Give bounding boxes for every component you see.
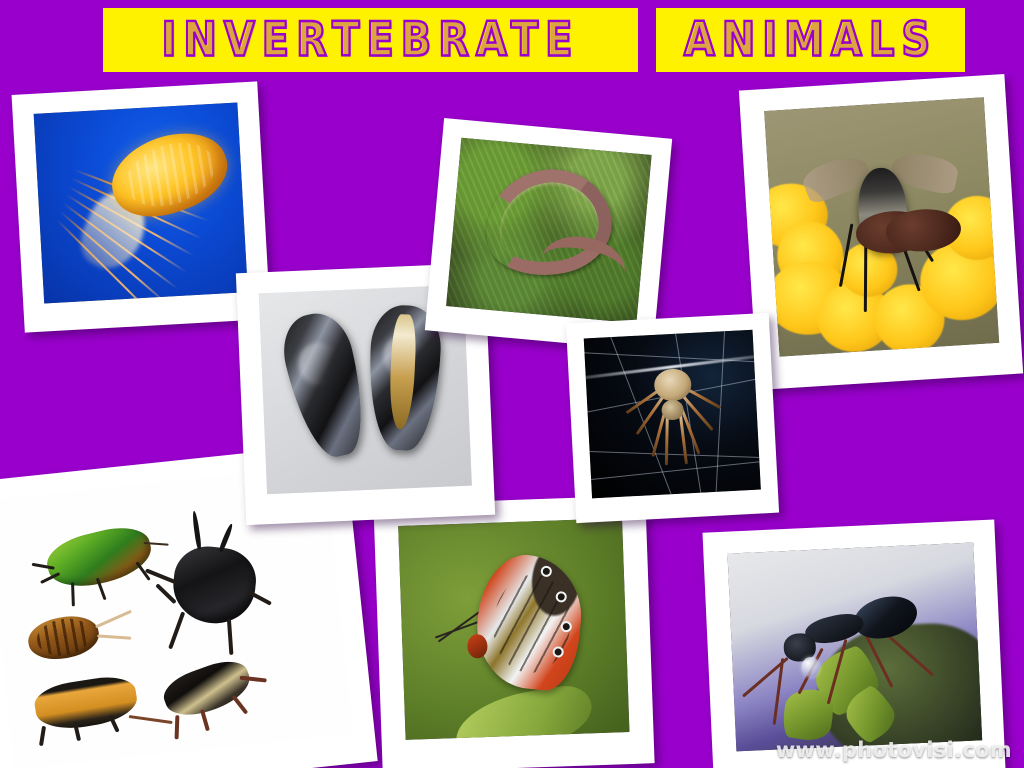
photo-frame-fly[interactable] bbox=[739, 74, 1023, 390]
photo-image-jellyfish bbox=[34, 102, 248, 303]
photo-frame-jellyfish[interactable] bbox=[12, 81, 271, 332]
title-text-animals: ANIMALS bbox=[684, 16, 937, 63]
photo-frame-ant[interactable] bbox=[702, 520, 1005, 768]
title-banner-right: ANIMALS bbox=[656, 8, 965, 72]
title-text-invertebrate: INVERTEBRATE bbox=[161, 16, 579, 63]
photo-frame-earthworm[interactable] bbox=[425, 118, 672, 351]
photo-frame-spider[interactable] bbox=[566, 313, 779, 523]
photo-image-spider bbox=[584, 330, 761, 499]
collage-canvas: INVERTEBRATE ANIMALS bbox=[0, 0, 1024, 768]
photo-image-fly bbox=[764, 97, 999, 356]
title-banner-left: INVERTEBRATE bbox=[103, 8, 638, 72]
photo-frame-butterfly[interactable] bbox=[373, 495, 654, 768]
photo-image-ant bbox=[727, 542, 982, 751]
photo-image-earthworm bbox=[446, 138, 652, 324]
photo-image-butterfly bbox=[398, 518, 629, 740]
